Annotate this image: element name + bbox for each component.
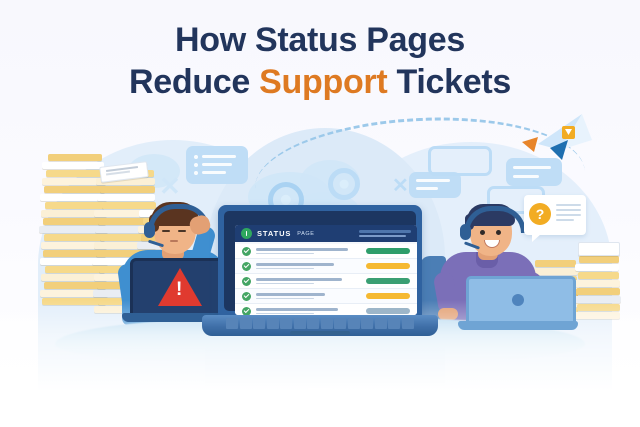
- service-label: [256, 263, 361, 269]
- status-page-title: STATUS: [257, 229, 291, 238]
- trackpad[interactable]: [290, 331, 350, 335]
- center-laptop: STATUS PAGE: [218, 205, 422, 335]
- status-badge: [366, 278, 410, 284]
- right-laptop-base: [458, 321, 578, 330]
- status-page-subtitle: PAGE: [297, 231, 314, 237]
- warning-exclamation: !: [176, 279, 182, 301]
- green-check-icon: [242, 262, 251, 271]
- headset-earcup: [144, 222, 155, 238]
- green-check-icon: [242, 247, 251, 256]
- headset-earcup: [460, 224, 471, 240]
- table-row[interactable]: [235, 244, 417, 259]
- headline-accent-word: Support: [259, 63, 387, 101]
- keyboard[interactable]: [226, 318, 414, 329]
- status-page-meta: [359, 230, 411, 237]
- service-label: [256, 248, 361, 254]
- checklist-speech-bubble-icon: [186, 146, 248, 184]
- headline-line-1: How Status Pages: [0, 22, 640, 58]
- green-clock-check-icon: [241, 228, 252, 239]
- green-check-icon: [242, 292, 251, 301]
- service-label: [256, 308, 361, 314]
- center-laptop-base: [202, 315, 438, 336]
- table-row[interactable]: [235, 259, 417, 274]
- apple-logo-dot: [512, 294, 524, 306]
- ticket-label: [578, 242, 620, 256]
- status-badge: [366, 263, 410, 269]
- headline-line-2-prefix: Reduce: [129, 63, 259, 101]
- headline-line-2-suffix: Tickets: [387, 63, 511, 101]
- screen-bezel: STATUS PAGE: [224, 211, 416, 311]
- page-title: How Status Pages Reduce Support Tickets: [0, 22, 640, 100]
- status-page-screen[interactable]: STATUS PAGE: [235, 225, 417, 315]
- paper-plane-icon: [520, 110, 600, 170]
- illustration-canvas: ✕ ✕ ✕: [0, 0, 640, 427]
- center-laptop-lid: STATUS PAGE: [218, 205, 422, 317]
- table-row[interactable]: [235, 304, 417, 315]
- card-text-lines: [556, 204, 581, 224]
- table-row[interactable]: [235, 274, 417, 289]
- service-label: [256, 293, 361, 299]
- table-row[interactable]: [235, 289, 417, 304]
- service-label: [256, 278, 361, 284]
- status-badge: [366, 248, 410, 254]
- green-check-icon: [242, 277, 251, 286]
- question-mark-magnifier-icon: ?: [529, 203, 551, 225]
- status-badge: [366, 293, 410, 299]
- headline-line-2: Reduce Support Tickets: [0, 64, 640, 100]
- right-laptop: [458, 276, 578, 332]
- status-row-list: [235, 242, 417, 315]
- green-check-icon: [242, 307, 251, 316]
- status-page-header: STATUS PAGE: [235, 225, 417, 242]
- status-badge: [366, 308, 410, 314]
- question-card: ?: [524, 195, 586, 235]
